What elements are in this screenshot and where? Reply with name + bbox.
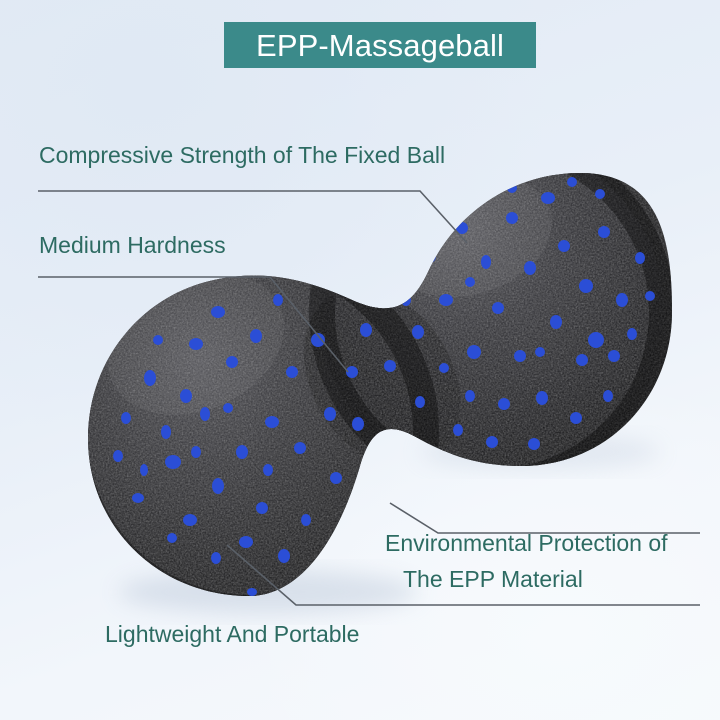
- callout-medium-hardness: Medium Hardness: [39, 232, 226, 259]
- callout-lightweight-portable: Lightweight And Portable: [105, 621, 359, 648]
- leader-line-environmental: [390, 503, 700, 533]
- product-infographic: EPP-Massageball: [0, 0, 720, 720]
- callout-environmental-protection: Environmental Protection of The EPP Mate…: [385, 530, 668, 593]
- product-illustration: [0, 0, 720, 720]
- callout-compressive-strength: Compressive Strength of The Fixed Ball: [39, 142, 445, 169]
- massage-ball: [0, 0, 720, 720]
- callout-environmental-line-2: The EPP Material: [403, 566, 668, 593]
- callout-environmental-line-1: Environmental Protection of: [385, 530, 668, 556]
